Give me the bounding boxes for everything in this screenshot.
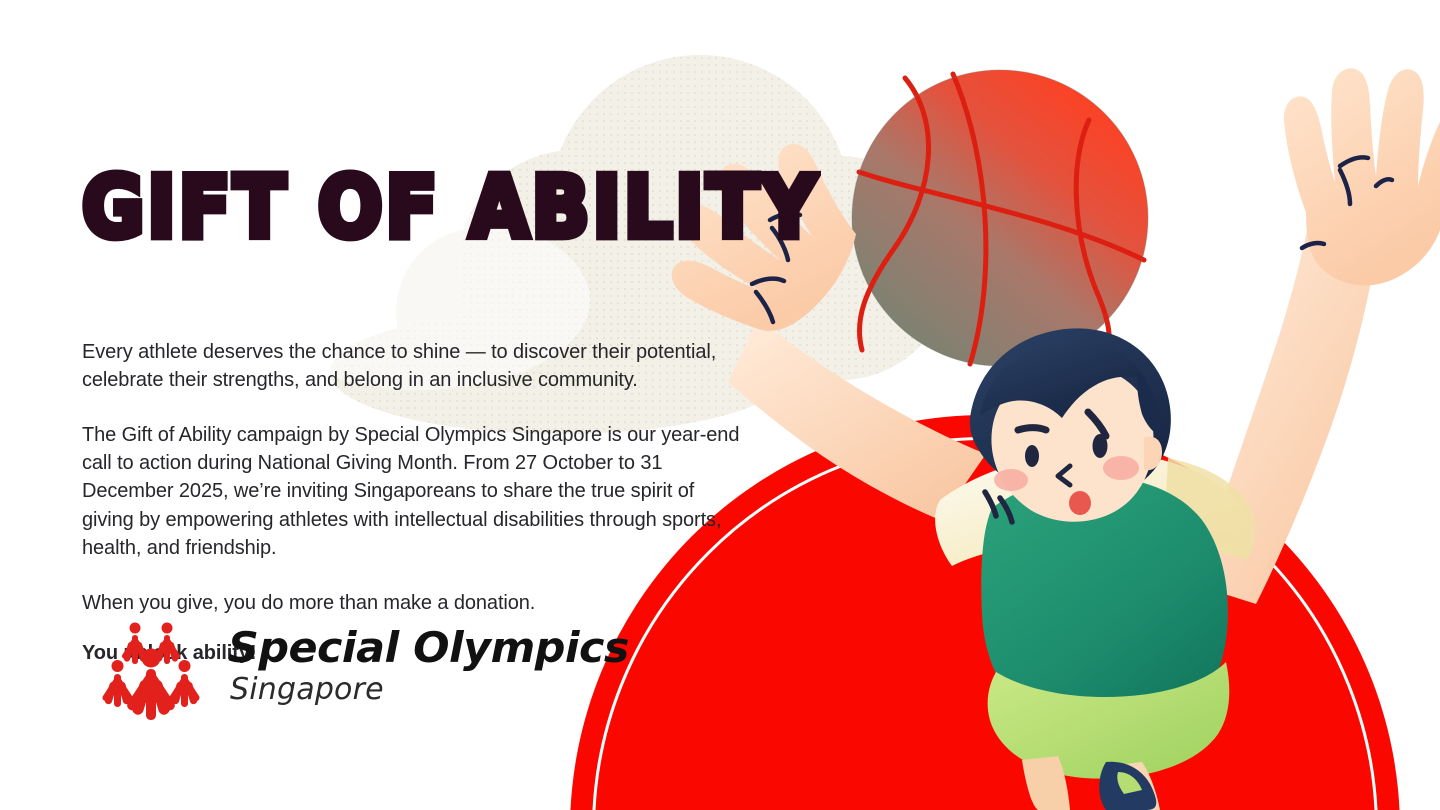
page-title: GIFT OF ABILITY xyxy=(82,168,742,246)
logo-line-special-olympics: Special Olympics xyxy=(228,627,629,669)
svg-text:®: ® xyxy=(148,712,155,720)
text-column: GIFT OF ABILITY Every athlete deserves t… xyxy=(82,168,742,667)
logo-line-singapore: Singapore xyxy=(230,675,621,705)
special-olympics-unity-icon: ® xyxy=(96,612,206,720)
paragraph-intro: Every athlete deserves the chance to shi… xyxy=(82,338,742,395)
basketball-group xyxy=(852,70,1148,366)
logo-wordmark: Special Olympics Singapore xyxy=(228,627,621,705)
paragraph-campaign-details: The Gift of Ability campaign by Special … xyxy=(82,421,742,563)
poster-canvas: GIFT OF ABILITY Every athlete deserves t… xyxy=(0,0,1440,810)
special-olympics-singapore-logo: ® Special Olympics Singapore xyxy=(96,612,621,720)
